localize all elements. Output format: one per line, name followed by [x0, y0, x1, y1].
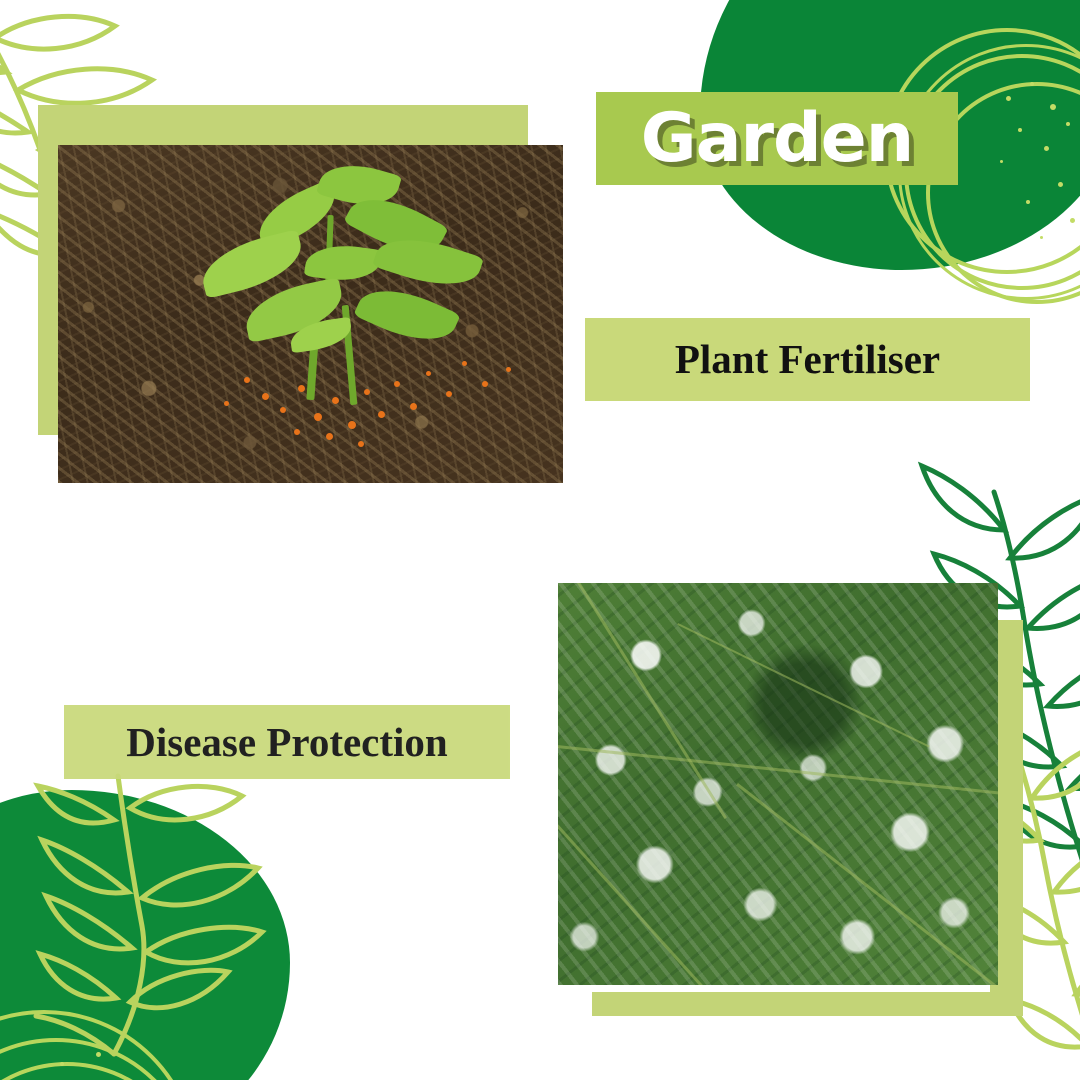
fertiliser-granule: [378, 411, 385, 418]
poster-canvas: Garden Plant Fertiliser: [0, 0, 1080, 1080]
fertiliser-granule: [462, 361, 467, 366]
leaf-vein: [558, 743, 998, 800]
speckle-icon: [1066, 122, 1070, 126]
leaf-sprig-icon: [30, 770, 300, 1080]
speckle-icon: [1044, 146, 1049, 151]
fertiliser-granule: [298, 385, 305, 392]
fertiliser-granule: [244, 377, 250, 383]
fertiliser-granule: [426, 371, 431, 376]
page-title: Garden: [596, 105, 958, 173]
seedling-leaf: [353, 275, 460, 355]
speckle-icon: [1030, 82, 1034, 86]
fertiliser-granule: [280, 407, 286, 413]
fertiliser-granule: [410, 403, 417, 410]
label-banner-disease-protection: Disease Protection: [64, 705, 510, 779]
fertiliser-granule: [506, 367, 511, 372]
leaf-vein: [558, 813, 749, 985]
fertiliser-granule: [294, 429, 300, 435]
speckle-icon: [1026, 200, 1030, 204]
fertiliser-granule: [326, 433, 333, 440]
fertiliser-granule: [224, 401, 229, 406]
fertiliser-granule: [314, 413, 322, 421]
disease-photo-backdrop-bottom: [592, 992, 1022, 1016]
label-disease-protection: Disease Protection: [64, 722, 510, 763]
fertiliser-granule: [348, 421, 356, 429]
disease-photo: [558, 583, 998, 985]
speckle-icon: [1018, 128, 1022, 132]
leaf-vein: [677, 623, 930, 748]
label-banner-plant-fertiliser: Plant Fertiliser: [585, 318, 1030, 401]
fertiliser-granule: [446, 391, 452, 397]
fertiliser-granule: [358, 441, 364, 447]
speckle-icon: [1040, 236, 1043, 239]
speckle-icon: [1006, 96, 1011, 101]
leaf-vein: [565, 583, 727, 819]
label-plant-fertiliser: Plant Fertiliser: [585, 339, 1030, 380]
speckle-icon: [1000, 160, 1003, 163]
speckle-icon: [1070, 218, 1075, 223]
speckle-icon: [1050, 104, 1056, 110]
fertiliser-granule: [394, 381, 400, 387]
fertiliser-granule: [262, 393, 269, 400]
fertiliser-granule: [482, 381, 488, 387]
page-title-banner: Garden: [596, 92, 958, 185]
seedling-leaf: [304, 240, 382, 286]
fertiliser-granule: [364, 389, 370, 395]
fertiliser-granule: [332, 397, 339, 404]
leaf-vein: [736, 783, 998, 985]
fertiliser-photo: [58, 145, 563, 483]
speckle-icon: [1058, 182, 1063, 187]
